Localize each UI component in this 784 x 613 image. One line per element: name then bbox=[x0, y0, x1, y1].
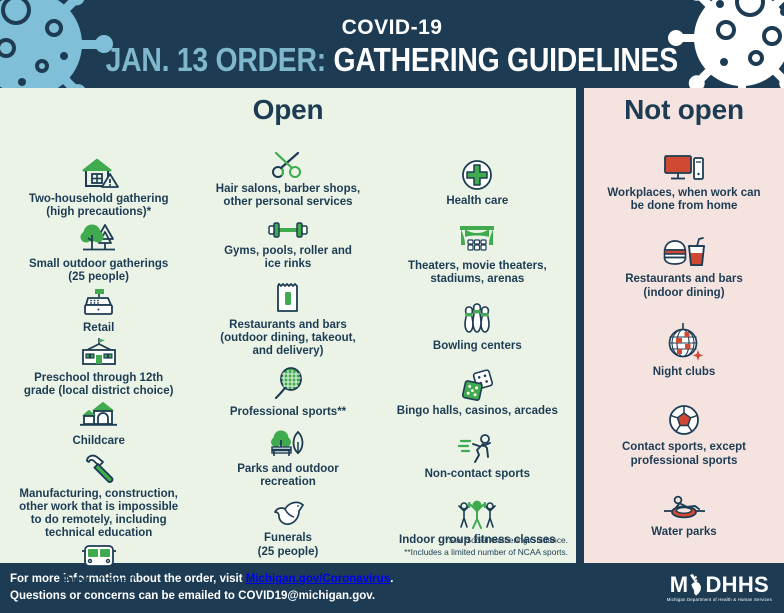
childcare-blocks-icon bbox=[77, 400, 121, 432]
poster-header: COVID-19 JAN. 13 ORDER: GATHERING GUIDEL… bbox=[0, 0, 784, 88]
dumbbell-icon bbox=[265, 218, 311, 242]
guideline-item: Restaurants and bars (outdoor dining, ta… bbox=[193, 280, 382, 359]
poster-body: Open Two-household gathering (high preca… bbox=[0, 88, 784, 563]
cash-register-icon bbox=[81, 287, 117, 319]
guideline-item: Workplaces, when work can be done from h… bbox=[584, 152, 784, 213]
guideline-item-label: Health care bbox=[442, 195, 512, 208]
guideline-item: Public transit bbox=[4, 542, 193, 588]
burger-drink-icon bbox=[661, 236, 707, 270]
guideline-item-label: Gyms, pools, roller and ice rinks bbox=[220, 245, 356, 271]
footer-line-2: Questions or concerns can be emailed to … bbox=[10, 588, 393, 605]
hammer-icon bbox=[81, 451, 117, 485]
guideline-item-label: Theaters, movie theaters, stadiums, aren… bbox=[404, 260, 551, 286]
guideline-item: Gyms, pools, roller and ice rinks bbox=[193, 218, 382, 271]
covid-gathering-guidelines-poster: COVID-19 JAN. 13 ORDER: GATHERING GUIDEL… bbox=[0, 0, 784, 613]
guideline-item-label: Restaurants and bars (indoor dining) bbox=[617, 273, 751, 299]
guideline-item: Health care bbox=[383, 158, 572, 208]
open-column-1: Two-household gathering (high precaution… bbox=[4, 128, 193, 563]
mdhhs-logo-subtitle: Michigan Department of Health & Human Se… bbox=[667, 598, 772, 602]
logo-letters-dhhs: DHHS bbox=[705, 574, 769, 596]
guideline-item: Childcare bbox=[4, 400, 193, 448]
guideline-item: Retail bbox=[4, 287, 193, 335]
school-icon bbox=[77, 337, 121, 369]
guideline-item-label: Two-household gathering (high precaution… bbox=[25, 193, 173, 219]
guideline-item-label: Bowling centers bbox=[429, 340, 526, 353]
guideline-item: Water parks bbox=[584, 491, 784, 539]
guideline-item: Night clubs bbox=[584, 323, 784, 379]
guideline-item: Two-household gathering (high precaution… bbox=[4, 156, 193, 219]
mdhhs-logo-wordmark: M DHHS bbox=[670, 574, 769, 596]
title-main-part: GATHERING GUIDELINES bbox=[334, 41, 678, 78]
guideline-item-label: Hair salons, barber shops, other persona… bbox=[212, 183, 364, 209]
guideline-item: Hair salons, barber shops, other persona… bbox=[193, 150, 382, 209]
guideline-item-label: Preschool through 12th grade (local dist… bbox=[20, 372, 178, 398]
guideline-item-label: Small outdoor gatherings (25 people) bbox=[25, 258, 172, 284]
trees-icon bbox=[77, 221, 121, 255]
guideline-item: Theaters, movie theaters, stadiums, aren… bbox=[383, 223, 572, 286]
closed-panel: Not open Workplaces, when work can be do… bbox=[584, 88, 784, 563]
guideline-item-label: Night clubs bbox=[645, 366, 724, 379]
guideline-item-label: Funerals (25 people) bbox=[254, 532, 323, 558]
coronavirus-website-link[interactable]: Michigan.gov/Coronavirus bbox=[246, 573, 390, 585]
guideline-item-label: Professional sports** bbox=[226, 406, 350, 419]
guideline-item-label: Retail bbox=[79, 322, 118, 335]
takeout-bag-icon bbox=[271, 280, 305, 316]
michigan-state-icon bbox=[686, 574, 706, 596]
footnotes: *See Social Gathering Guidance. **Includ… bbox=[404, 535, 568, 558]
guideline-item: Small outdoor gatherings (25 people) bbox=[4, 221, 193, 284]
guideline-item-label: Workplaces, when work can be done from h… bbox=[599, 187, 768, 213]
runner-icon bbox=[457, 433, 497, 465]
guideline-item-label: Non-contact sports bbox=[421, 468, 534, 481]
tennis-racket-icon bbox=[271, 367, 305, 403]
medical-cross-icon bbox=[460, 158, 494, 192]
closed-heading: Not open bbox=[584, 88, 784, 126]
covid-label: COVID-19 bbox=[342, 17, 443, 38]
guideline-item: Bingo halls, casinos, arcades bbox=[383, 368, 572, 418]
guideline-item: Manufacturing, construction, other work … bbox=[4, 451, 193, 541]
guideline-item-label: Water parks bbox=[643, 526, 724, 539]
guideline-item-label: Contact sports, except professional spor… bbox=[614, 441, 754, 467]
dove-icon bbox=[270, 497, 306, 529]
guideline-item: Professional sports** bbox=[193, 367, 382, 419]
theater-curtain-icon bbox=[456, 223, 498, 257]
open-column-2: Hair salons, barber shops, other persona… bbox=[193, 128, 382, 563]
guideline-item: Contact sports, except professional spor… bbox=[584, 402, 784, 467]
guideline-item: Parks and outdoor recreation bbox=[193, 428, 382, 489]
guideline-item-label: Restaurants and bars (outdoor dining, ta… bbox=[216, 319, 359, 359]
guideline-item-label: Manufacturing, construction, other work … bbox=[15, 488, 182, 541]
guideline-item: Non-contact sports bbox=[383, 433, 572, 481]
group-fitness-icon bbox=[454, 497, 500, 531]
open-panel: Open Two-household gathering (high preca… bbox=[0, 88, 576, 563]
bowling-pins-icon bbox=[457, 301, 497, 337]
section-divider bbox=[576, 88, 584, 563]
disco-ball-icon bbox=[664, 323, 704, 363]
soccer-ball-icon bbox=[665, 402, 703, 438]
desktop-computer-icon bbox=[661, 152, 707, 184]
guideline-item: Funerals (25 people) bbox=[193, 497, 382, 558]
mdhhs-logo: M DHHS Michigan Department of Health & H… bbox=[667, 574, 772, 602]
dice-icon bbox=[457, 368, 497, 402]
guideline-item-label: Bingo halls, casinos, arcades bbox=[393, 405, 562, 418]
open-heading: Open bbox=[0, 88, 576, 126]
footer-line1-suffix: . bbox=[390, 573, 393, 585]
scissors-icon bbox=[269, 150, 307, 180]
guideline-item: Bowling centers bbox=[383, 301, 572, 353]
house-warning-icon bbox=[77, 156, 121, 190]
water-slide-tube-icon bbox=[661, 491, 707, 523]
park-bench-tree-icon bbox=[266, 428, 310, 460]
guideline-item: Preschool through 12th grade (local dist… bbox=[4, 337, 193, 398]
bus-icon bbox=[77, 542, 121, 572]
guideline-item-label: Childcare bbox=[68, 435, 128, 448]
page-title: JAN. 13 ORDER: GATHERING GUIDELINES bbox=[106, 43, 678, 76]
open-column-3: Health careTheaters, movie theaters, sta… bbox=[383, 128, 572, 563]
guideline-item-label: Parks and outdoor recreation bbox=[233, 463, 343, 489]
closed-items-list: Workplaces, when work can be done from h… bbox=[584, 126, 784, 563]
guideline-item-label: Public transit bbox=[58, 575, 139, 588]
guideline-item: Restaurants and bars (indoor dining) bbox=[584, 236, 784, 299]
title-date-part: JAN. 13 ORDER: bbox=[106, 41, 326, 78]
